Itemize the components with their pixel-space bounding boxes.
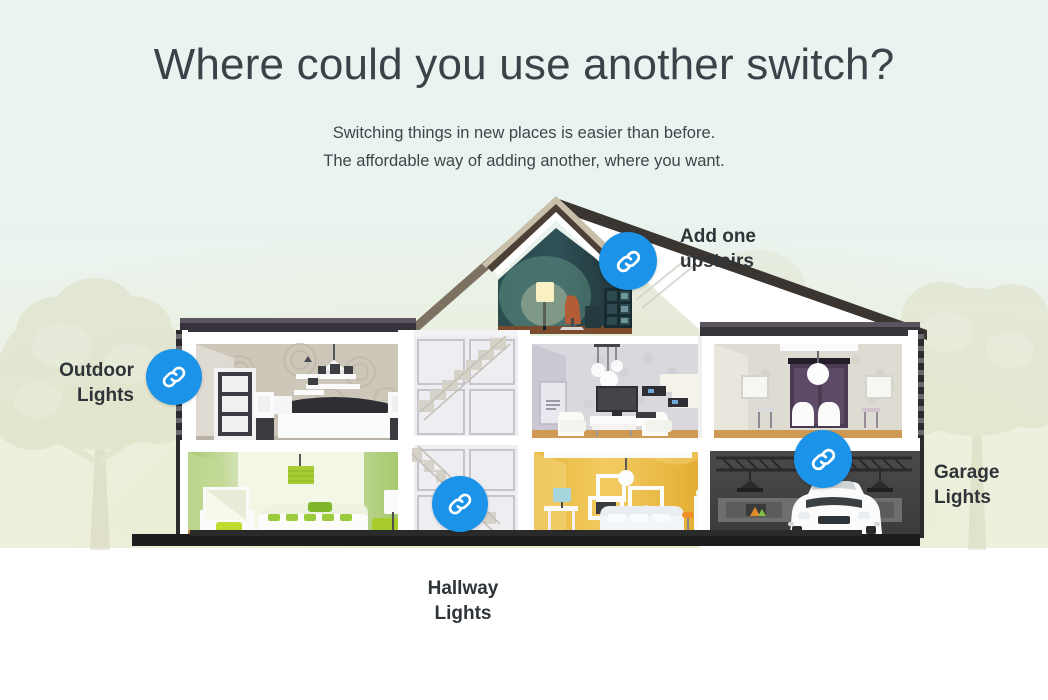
- callout-label-add-one-upstairs: Add one upstairs: [680, 224, 870, 274]
- illustration-canvas: Where could you use another switch? Swit…: [0, 0, 1048, 700]
- link-icon: [808, 444, 839, 475]
- page-title: Where could you use another switch?: [0, 40, 1048, 90]
- callout-label-hallway-lights: Hallway Lights: [393, 576, 533, 626]
- link-pin-upstairs[interactable]: [599, 232, 657, 290]
- link-pin-outdoor-lights[interactable]: [146, 349, 202, 405]
- callout-label-outdoor-lights: Outdoor Lights: [18, 358, 134, 408]
- subtitle-line-2: The affordable way of adding another, wh…: [0, 152, 1048, 171]
- link-icon: [159, 362, 189, 392]
- link-icon: [445, 489, 475, 519]
- subtitle-line-1: Switching things in new places is easier…: [0, 124, 1048, 143]
- link-pin-garage[interactable]: [794, 430, 852, 488]
- callout-label-garage-lights: Garage Lights: [934, 460, 1048, 510]
- link-pin-hallway[interactable]: [432, 476, 488, 532]
- link-icon: [613, 246, 644, 277]
